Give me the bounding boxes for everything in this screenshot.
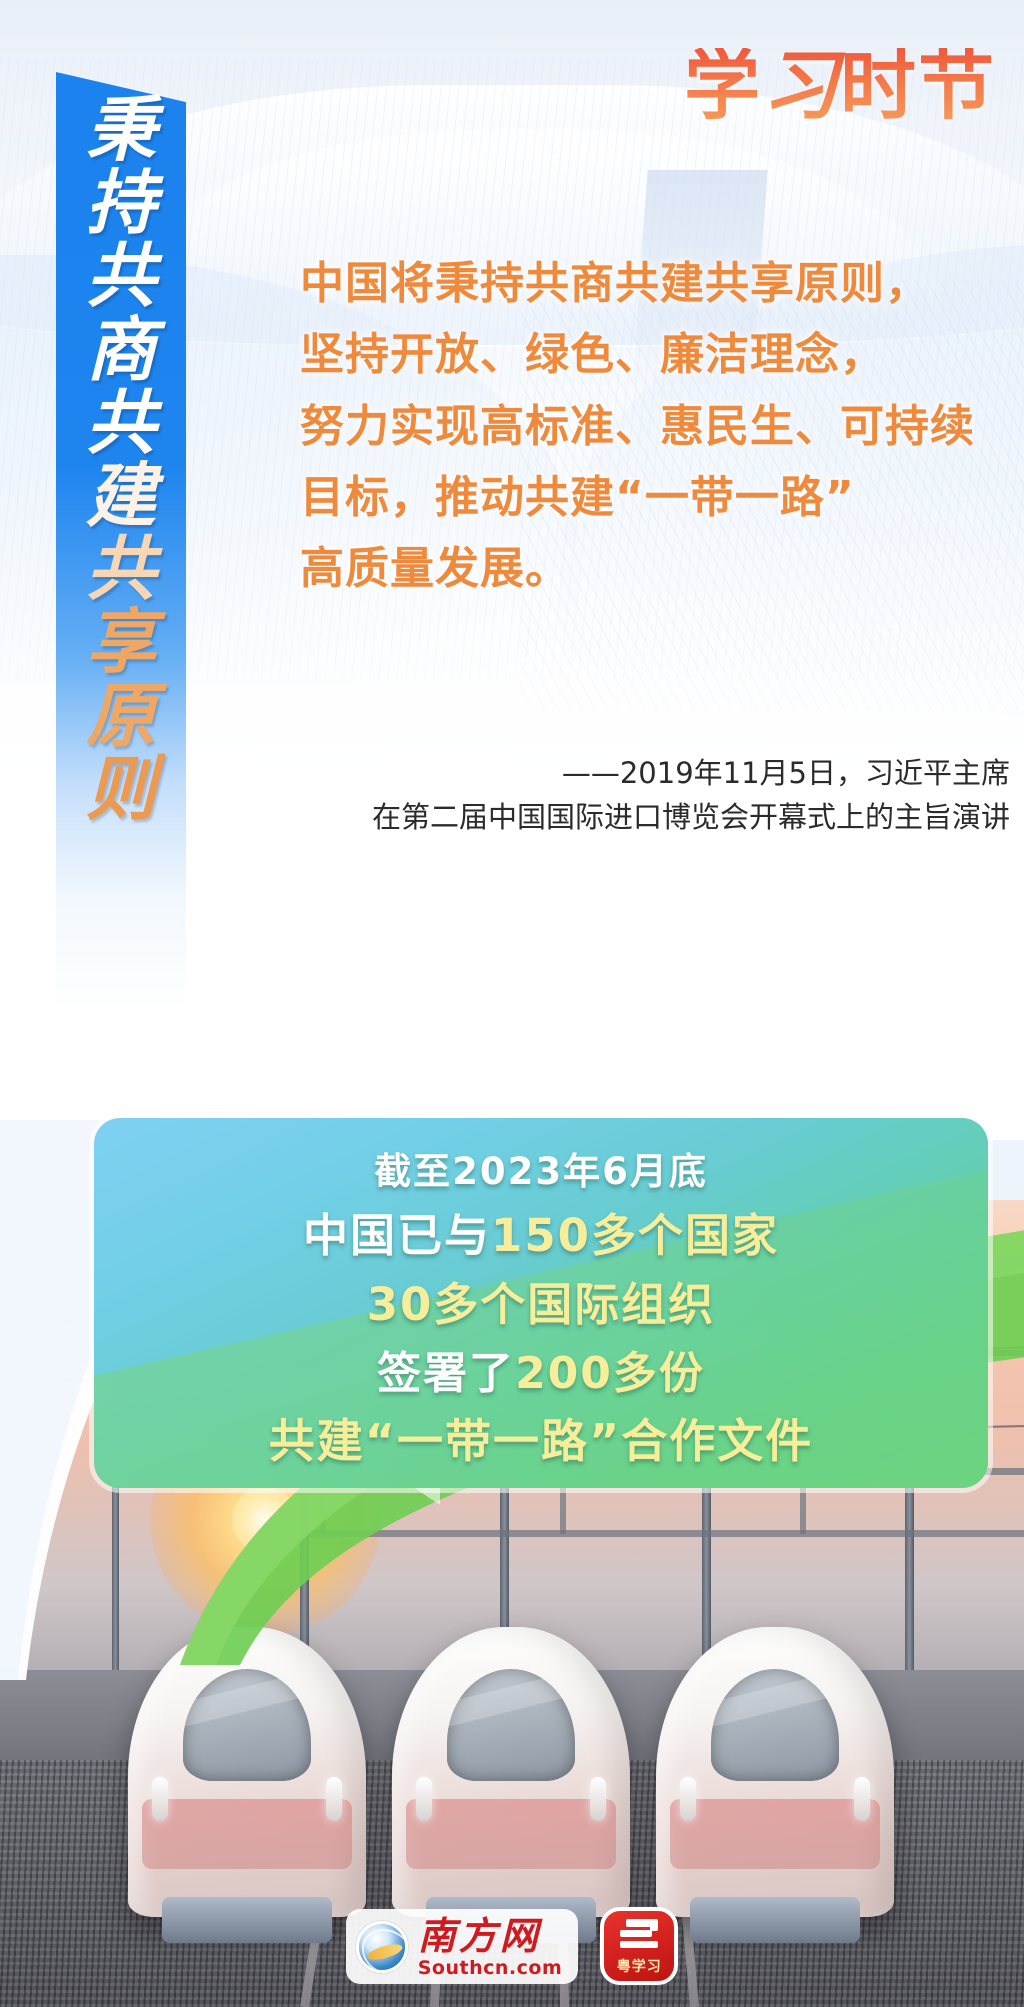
- train-windshield: [447, 1669, 575, 1781]
- vertical-title-text: 秉 持 共 商 共 建 共 享 原 则: [56, 96, 186, 996]
- program-logo-char-1: 学: [684, 41, 762, 130]
- yuexuexi-label: 粤学习: [617, 1956, 662, 1976]
- southcn-logo-text: 南方网 Southcn.com: [418, 1917, 563, 1978]
- vertical-title-char: 共: [86, 389, 156, 456]
- train-stripe: [670, 1799, 880, 1869]
- vertical-title-char: 持: [86, 169, 156, 236]
- stat-line-organizations: 30多个国际组织: [367, 1268, 716, 1333]
- train-stripe: [406, 1799, 616, 1869]
- vertical-title-char: 建: [86, 462, 156, 529]
- stat-countries-suffix: 多个国家: [591, 1209, 779, 1262]
- stat-countries-prefix: 中国已与: [303, 1209, 491, 1262]
- high-speed-train: [392, 1627, 630, 1917]
- high-speed-train: [656, 1627, 894, 1917]
- vertical-title-char: 则: [86, 755, 156, 822]
- train-windshield: [183, 1669, 311, 1781]
- program-logo-char-3: 时节: [840, 41, 996, 130]
- quote-line: 中国将秉持共商共建共享原则，: [300, 248, 1000, 319]
- statistics-card-content: 截至2023年6月底 中国已与150多个国家 30多个国际组织 签署了200多份…: [94, 1118, 988, 1488]
- vertical-title-char: 原: [86, 682, 156, 749]
- stat-line-countries: 中国已与150多个国家: [303, 1199, 779, 1264]
- quote-line: 努力实现高标准、惠民生、可持续: [300, 391, 1000, 462]
- stat-countries-number: 150: [491, 1209, 591, 1262]
- book-flag-icon: [620, 1919, 658, 1953]
- quote-line: 坚持开放、绿色、廉洁理念，: [300, 319, 1000, 390]
- vertical-title-char: 秉: [86, 96, 156, 163]
- quote-line: 目标，推动共建“一带一路”: [300, 462, 1000, 533]
- train-headlamp: [680, 1777, 696, 1821]
- train-windshield: [711, 1669, 839, 1781]
- train-headlamp: [854, 1777, 870, 1821]
- vertical-title-char: 共: [86, 535, 156, 602]
- train-headlamp: [326, 1777, 342, 1821]
- southcn-logo-chinese: 南方网: [418, 1917, 563, 1955]
- quote-block: 中国将秉持共商共建共享原则， 坚持开放、绿色、廉洁理念， 努力实现高标准、惠民生…: [300, 248, 1000, 604]
- vertical-title-char: 共: [86, 242, 156, 309]
- vertical-title-char: 享: [86, 608, 156, 675]
- attribution-line-2: 在第二届中国国际进口博览会开幕式上的主旨演讲: [240, 796, 1010, 840]
- quote-line: 高质量发展。: [300, 533, 1000, 604]
- southcn-logo[interactable]: 南方网 Southcn.com: [346, 1909, 579, 1984]
- program-logo-char-2: 习: [762, 41, 840, 130]
- stat-documents-suffix: 多份: [613, 1348, 705, 1399]
- train-headlamp: [152, 1777, 168, 1821]
- stat-line-cooperation: 共建“一带一路”合作文件: [269, 1405, 813, 1471]
- southcn-logo-english: Southcn.com: [418, 1959, 563, 1978]
- train-headlamp: [416, 1777, 432, 1821]
- stat-line-date: 截至2023年6月底: [374, 1141, 708, 1195]
- stat-documents-number: 200: [515, 1348, 613, 1399]
- program-logo: 学习时节: [684, 48, 996, 124]
- attribution-line-1: ——2019年11月5日，习近平主席: [240, 752, 1010, 796]
- statistics-card: 截至2023年6月底 中国已与150多个国家 30多个国际组织 签署了200多份…: [94, 1118, 988, 1488]
- stat-documents-prefix: 签署了: [377, 1348, 515, 1399]
- globe-icon: [356, 1921, 408, 1973]
- train-headlamp: [590, 1777, 606, 1821]
- quote-attribution: ——2019年11月5日，习近平主席 在第二届中国国际进口博览会开幕式上的主旨演…: [240, 752, 1010, 839]
- footer-logos: 南方网 Southcn.com 粤学习: [0, 1907, 1024, 1985]
- train-stripe: [142, 1799, 352, 1869]
- yuexuexi-app-icon[interactable]: 粤学习: [600, 1907, 678, 1985]
- vertical-title-char: 商: [86, 316, 156, 383]
- stat-line-documents: 签署了200多份: [377, 1337, 705, 1401]
- poster-root: 学习时节 秉 持 共 商 共 建 共 享 原 则 中国将秉持共商共建共享原则， …: [0, 0, 1024, 2007]
